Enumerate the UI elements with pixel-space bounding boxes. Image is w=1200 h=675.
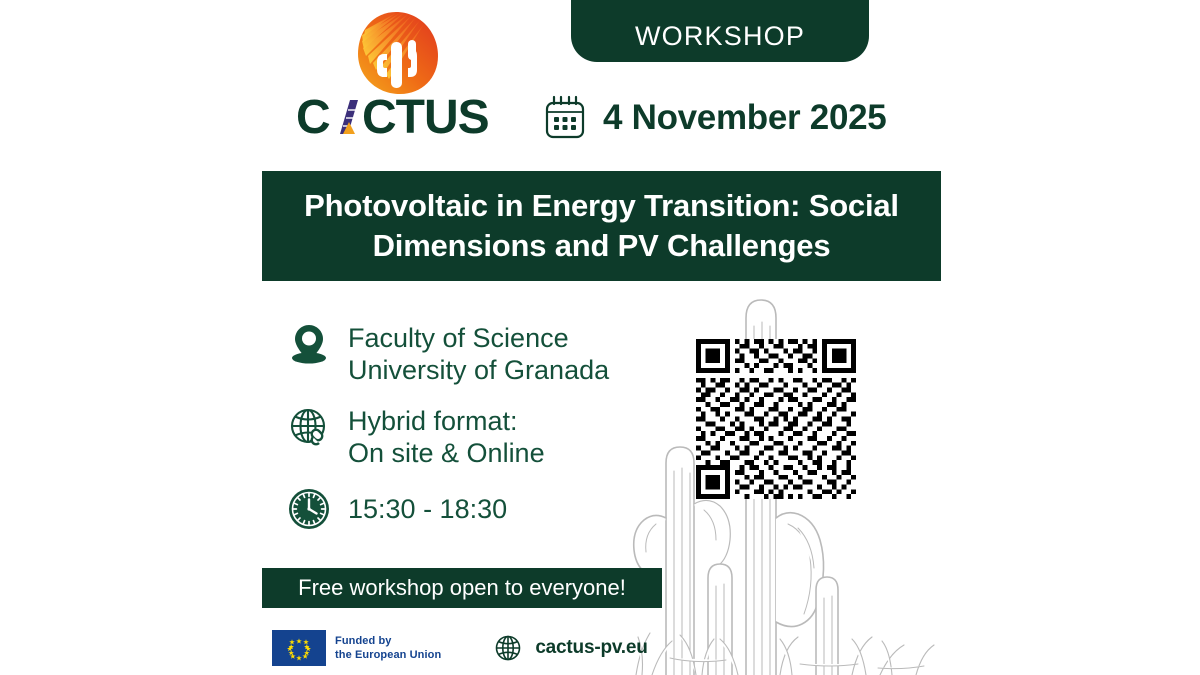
detail-time: 15:30 - 18:30 [288, 485, 688, 533]
globe-icon [495, 635, 521, 661]
eu-flag-icon [272, 630, 326, 666]
workshop-badge-label: WORKSHOP [635, 21, 805, 52]
detail-format: Hybrid format: On site & Online [288, 403, 688, 470]
workshop-badge: WORKSHOP [571, 0, 869, 62]
footer: Funded by the European Union cactus-pv.e… [272, 630, 648, 666]
detail-location-text: Faculty of Science University of Granada [348, 320, 609, 387]
globe-link-icon [288, 403, 330, 451]
poster-canvas: WORKSHOP [0, 0, 1200, 675]
clock-icon [288, 485, 330, 533]
detail-location: Faculty of Science University of Granada [288, 320, 688, 387]
calendar-icon [543, 95, 587, 141]
website-link[interactable]: cactus-pv.eu [495, 635, 647, 661]
cactus-wordmark: C CTUS [296, 92, 496, 144]
eu-funding-text: Funded by the European Union [335, 634, 441, 662]
eu-funding-logo: Funded by the European Union [272, 630, 441, 666]
cactus-logo: C CTUS [296, 4, 496, 146]
free-workshop-banner: Free workshop open to everyone! [262, 568, 662, 608]
event-date-text: 4 November 2025 [603, 98, 886, 138]
qr-code-icon[interactable] [696, 339, 856, 499]
event-date: 4 November 2025 [543, 95, 886, 141]
svg-text:CTUS: CTUS [362, 92, 489, 144]
detail-time-text: 15:30 - 18:30 [348, 494, 507, 526]
event-details-list: Faculty of Science University of Granada [288, 320, 688, 549]
title-banner: Photovoltaic in Energy Transition: Socia… [262, 171, 941, 281]
detail-format-text: Hybrid format: On site & Online [348, 403, 545, 470]
location-pin-icon [288, 320, 330, 368]
qr-code[interactable] [696, 339, 856, 499]
website-url[interactable]: cactus-pv.eu [535, 637, 647, 659]
svg-text:C: C [296, 92, 330, 144]
sun-cactus-logo-icon [346, 4, 446, 96]
free-workshop-label: Free workshop open to everyone! [298, 575, 626, 601]
page-title: Photovoltaic in Energy Transition: Socia… [282, 186, 921, 267]
